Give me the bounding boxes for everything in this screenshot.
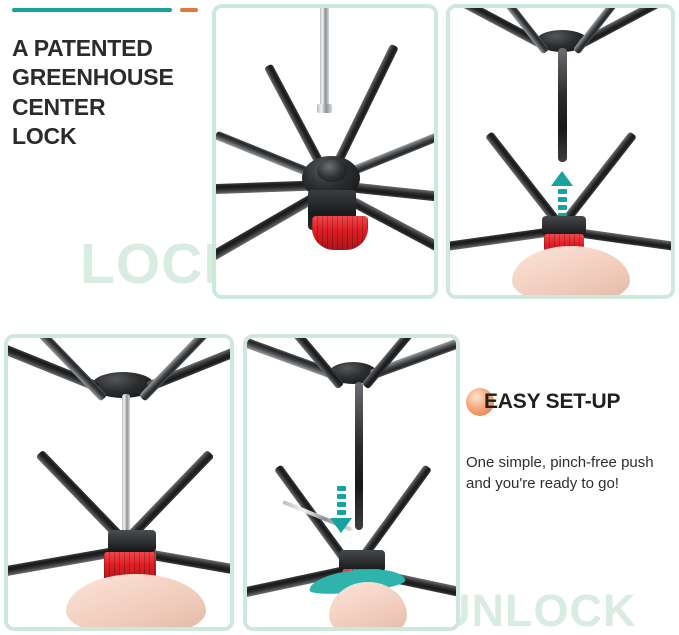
setup-title: EASY SET-UP bbox=[484, 390, 620, 414]
infographic-root: LOCK UNLOCK A PATENTEDGREENHOUSECENTERLO… bbox=[0, 0, 679, 635]
arrow-dash bbox=[337, 510, 346, 515]
decor-rule-orange bbox=[180, 8, 198, 12]
arrow-down-icon bbox=[330, 483, 352, 533]
arrow-dash bbox=[337, 486, 346, 491]
arrow-dash bbox=[337, 494, 346, 499]
photo-panel-push-up-lock bbox=[446, 4, 675, 299]
arrow-dash bbox=[558, 205, 567, 210]
watermark-unlock: UNLOCK bbox=[438, 585, 636, 635]
base-hub bbox=[542, 216, 586, 236]
photo-unlock-twist bbox=[247, 338, 456, 627]
photo-center-lock-closeup bbox=[216, 8, 434, 295]
center-slider-rod bbox=[558, 48, 567, 162]
decor-rule-row bbox=[12, 8, 212, 12]
arrow-up-icon bbox=[551, 171, 573, 218]
arrow-head bbox=[330, 518, 352, 533]
decor-rule-teal bbox=[12, 8, 172, 12]
header-block: A PATENTEDGREENHOUSECENTERLOCK bbox=[12, 8, 212, 152]
arrow-dash bbox=[337, 502, 346, 507]
hub-top-ring bbox=[317, 160, 347, 182]
setup-copy-block: EASY SET-UP One simple, pinch-free push … bbox=[466, 388, 666, 495]
setup-heading-row: EASY SET-UP bbox=[466, 388, 666, 416]
hand bbox=[512, 246, 630, 299]
hand bbox=[66, 574, 206, 631]
photo-push-up-lock bbox=[450, 8, 671, 295]
arrow-head bbox=[551, 171, 573, 186]
page-title: A PATENTEDGREENHOUSECENTERLOCK bbox=[12, 34, 212, 152]
setup-body-text: One simple, pinch-free push and you're r… bbox=[466, 452, 666, 495]
red-lock-cap bbox=[312, 216, 368, 250]
chrome-pole-tip bbox=[317, 104, 332, 113]
photo-locked-frame bbox=[8, 338, 230, 627]
photo-panel-locked-frame bbox=[4, 334, 234, 631]
center-slider-rod bbox=[122, 394, 130, 536]
photo-panel-center-lock-closeup bbox=[212, 4, 438, 299]
base-hub bbox=[108, 530, 156, 552]
arrow-dash bbox=[558, 197, 567, 202]
chrome-pole bbox=[320, 6, 329, 110]
arrow-dash bbox=[558, 189, 567, 194]
photo-panel-unlock-twist bbox=[243, 334, 460, 631]
center-slider-rod bbox=[355, 382, 363, 530]
